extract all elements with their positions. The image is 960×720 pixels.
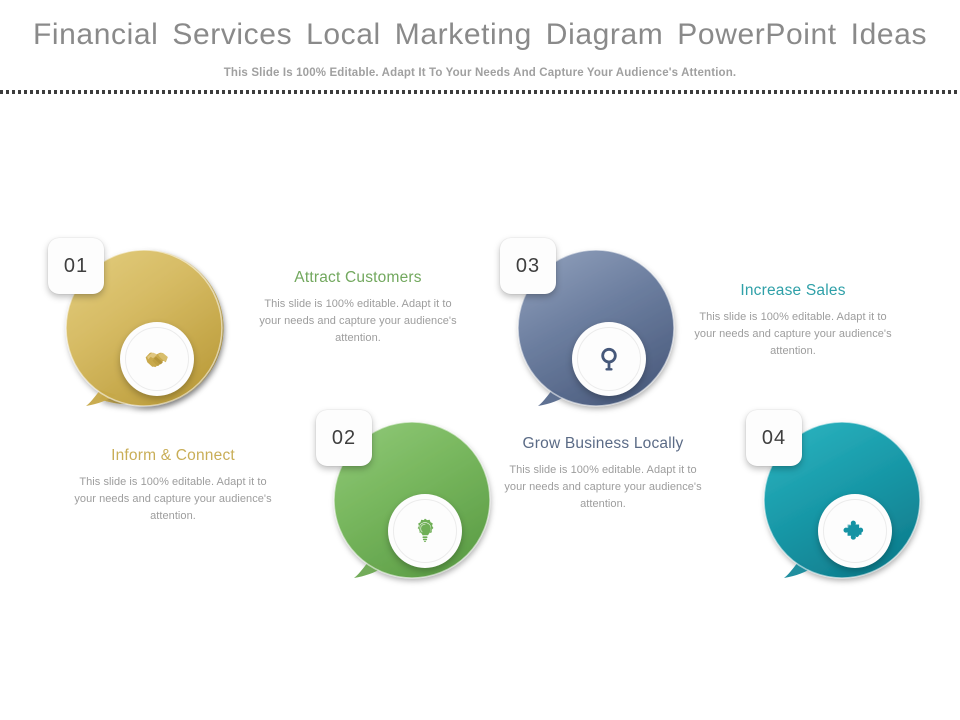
step-badge-03[interactable]: 03 <box>500 238 556 294</box>
step-badge-02[interactable]: 02 <box>316 410 372 466</box>
step-number-03: 03 <box>516 255 540 278</box>
step-number-02: 02 <box>332 427 356 450</box>
step-number-04: 04 <box>762 427 786 450</box>
puzzle-piece-icon <box>839 515 871 547</box>
item-title-01: Inform & Connect <box>73 445 273 467</box>
item-title-02: Attract Customers <box>258 267 458 289</box>
text-block-03: Grow Business Locally This slide is 100%… <box>503 433 703 513</box>
item-body-02: This slide is 100% editable. Adapt it to… <box>258 296 458 347</box>
diagram-node-03[interactable]: 03 <box>516 248 676 408</box>
step-number-01: 01 <box>64 255 88 278</box>
icon-disc-01[interactable] <box>120 322 194 396</box>
slide: Financial Services Local Marketing Diagr… <box>0 0 960 720</box>
icon-disc-03[interactable] <box>572 322 646 396</box>
step-badge-04[interactable]: 04 <box>746 410 802 466</box>
item-title-04: Increase Sales <box>693 280 893 302</box>
handshake-icon <box>141 343 173 375</box>
icon-disc-02[interactable] <box>388 494 462 568</box>
item-body-01: This slide is 100% editable. Adapt it to… <box>73 474 273 525</box>
item-title-03: Grow Business Locally <box>503 433 703 455</box>
diagram-node-04[interactable]: 04 <box>762 420 922 580</box>
lightbulb-gear-icon <box>409 515 441 547</box>
page-subtitle: This Slide Is 100% Editable. Adapt It To… <box>0 67 960 79</box>
diagram-node-01[interactable]: 01 <box>64 248 224 408</box>
step-badge-01[interactable]: 01 <box>48 238 104 294</box>
page-title: Financial Services Local Marketing Diagr… <box>0 18 960 52</box>
text-block-04: Increase Sales This slide is 100% editab… <box>693 280 893 360</box>
magnifier-icon <box>593 343 625 375</box>
item-body-03: This slide is 100% editable. Adapt it to… <box>503 462 703 513</box>
text-block-01: Inform & Connect This slide is 100% edit… <box>73 445 273 525</box>
diagram-canvas: 01 Inform & Connect This <box>0 100 960 720</box>
header-divider <box>0 90 960 94</box>
icon-disc-04[interactable] <box>818 494 892 568</box>
item-body-04: This slide is 100% editable. Adapt it to… <box>693 309 893 360</box>
text-block-02: Attract Customers This slide is 100% edi… <box>258 267 458 347</box>
diagram-node-02[interactable]: 02 <box>332 420 492 580</box>
